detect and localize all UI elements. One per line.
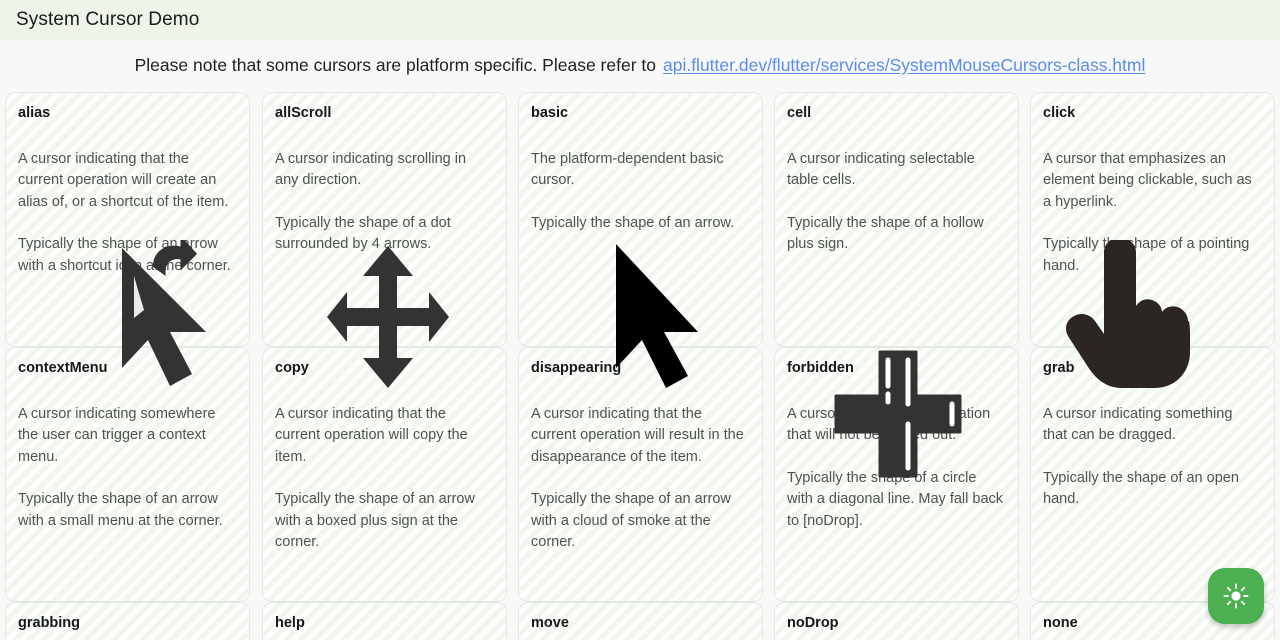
card-description: A cursor indicating an operation that wi… [787,406,990,444]
cursor-card-grabbing[interactable]: grabbing [5,602,250,640]
card-description: A cursor indicating that the current ope… [531,406,744,465]
card-title: cell [787,105,1018,121]
docs-link[interactable]: api.flutter.dev/flutter/services/SystemM… [663,55,1145,76]
card-description: A cursor indicating something that can b… [1043,406,1232,444]
cursor-card-move[interactable]: move [518,602,763,640]
brightness-toggle-fab[interactable] [1208,568,1264,624]
cursor-card-forbidden[interactable]: forbidden A cursor indicating an operati… [774,347,1019,602]
card-body: A cursor indicating scrolling in any dir… [275,127,492,277]
card-title: disappearing [531,360,762,376]
card-shape-note: Typically the shape of an arrow with a s… [18,489,235,532]
card-title: basic [531,105,762,121]
card-title: copy [275,360,506,376]
card-title: move [531,615,762,631]
card-description: A cursor indicating that the current ope… [18,151,228,210]
cursor-card-allscroll[interactable]: allScroll A cursor indicating scrolling … [262,92,507,347]
card-description: A cursor indicating scrolling in any dir… [275,151,466,189]
card-body: A cursor indicating that the current ope… [18,127,235,299]
card-shape-note: Typically the shape of a pointing hand. [1043,234,1260,277]
card-body: A cursor indicating that the current ope… [531,382,748,575]
card-description: A cursor indicating somewhere the user c… [18,406,215,465]
card-title: grab [1043,360,1274,376]
card-shape-note: Typically the shape of a circle with a d… [787,468,1004,533]
cursor-card-disappearing[interactable]: disappearing A cursor indicating that th… [518,347,763,602]
cursor-card-alias[interactable]: alias A cursor indicating that the curre… [5,92,250,347]
card-title: forbidden [787,360,1018,376]
cursor-card-cell[interactable]: cell A cursor indicating selectable tabl… [774,92,1019,347]
card-description: A cursor indicating selectable table cel… [787,151,975,189]
app-bar: System Cursor Demo [0,0,1280,40]
card-description: The platform-dependent basic cursor. [531,151,724,189]
card-description: A cursor indicating that the current ope… [275,406,468,465]
card-title: allScroll [275,105,506,121]
page-title: System Cursor Demo [0,9,199,31]
notice-text: Please note that some cursors are platfo… [135,55,656,76]
brightness-sun-icon [1223,583,1249,609]
cursor-card-basic[interactable]: basic The platform-dependent basic curso… [518,92,763,347]
cursor-card-help[interactable]: help [262,602,507,640]
card-body: A cursor indicating that the current ope… [275,382,492,575]
cursor-card-copy[interactable]: copy A cursor indicating that the curren… [262,347,507,602]
card-title: click [1043,105,1274,121]
card-shape-note: Typically the shape of an arrow with a c… [531,489,748,554]
card-title: help [275,615,506,631]
platform-notice: Please note that some cursors are platfo… [0,40,1280,90]
card-body: A cursor indicating an operation that wi… [787,382,1004,554]
card-body: The platform-dependent basic cursor. Typ… [531,127,748,256]
card-title: noDrop [787,615,1018,631]
card-body: A cursor that emphasizes an element bein… [1043,127,1260,299]
cursor-card-grid: alias A cursor indicating that the curre… [0,92,1280,640]
cursor-card-contextmenu[interactable]: contextMenu A cursor indicating somewher… [5,347,250,602]
card-title: grabbing [18,615,249,631]
card-shape-note: Typically the shape of an arrow with a s… [18,234,235,277]
cursor-card-nodrop[interactable]: noDrop [774,602,1019,640]
card-title: alias [18,105,249,121]
cursor-card-grab[interactable]: grab A cursor indicating something that … [1030,347,1275,602]
card-description: A cursor that emphasizes an element bein… [1043,151,1252,210]
card-body: A cursor indicating selectable table cel… [787,127,1004,277]
cursor-demo-app: System Cursor Demo Please note that some… [0,0,1280,640]
card-shape-note: Typically the shape of an open hand. [1043,468,1260,511]
card-shape-note: Typically the shape of a dot surrounded … [275,213,492,256]
cursor-card-click[interactable]: click A cursor that emphasizes an elemen… [1030,92,1275,347]
card-body: A cursor indicating something that can b… [1043,382,1260,532]
card-shape-note: Typically the shape of an arrow. [531,213,748,235]
card-shape-note: Typically the shape of an arrow with a b… [275,489,492,554]
card-title: contextMenu [18,360,249,376]
card-body: A cursor indicating somewhere the user c… [18,382,235,554]
card-shape-note: Typically the shape of a hollow plus sig… [787,213,1004,256]
